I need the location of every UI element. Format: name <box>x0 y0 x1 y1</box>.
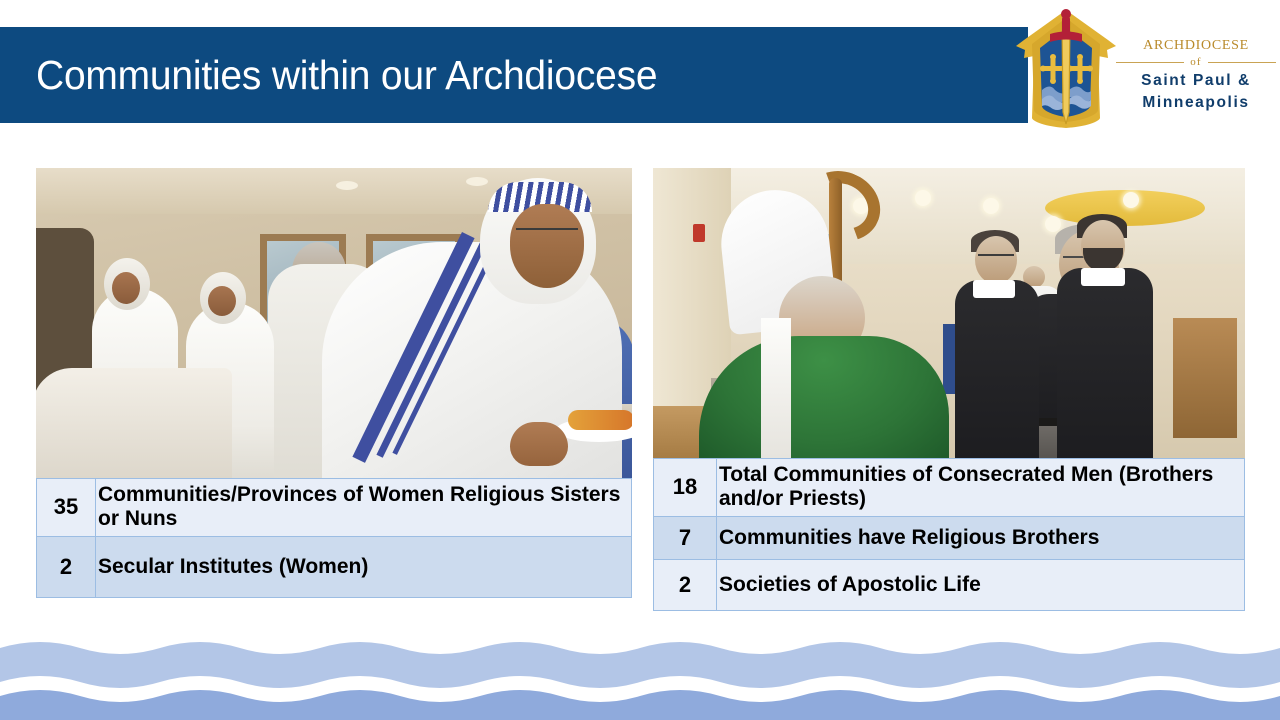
archdiocese-logo: Archdiocese of Saint Paul & Minneapolis <box>1012 6 1274 130</box>
logo-minneapolis-text: Minneapolis <box>1116 94 1276 112</box>
glasses-icon <box>516 228 578 241</box>
logo-saint-paul-text: Saint Paul & <box>1116 72 1276 90</box>
right-photo-brother-body <box>1057 268 1153 458</box>
women-communities-table: 35 Communities/Provinces of Women Religi… <box>36 478 632 598</box>
row-label: Communities/Provinces of Women Religious… <box>96 479 632 537</box>
roman-collar-icon <box>973 280 1015 298</box>
left-photo-scene <box>36 168 632 478</box>
row-count: 2 <box>654 559 717 610</box>
row-label: Societies of Apostolic Life <box>717 559 1245 610</box>
left-photo-sister-face <box>112 272 140 304</box>
table-row: 2 Secular Institutes (Women) <box>37 536 632 597</box>
table-row: 18 Total Communities of Consecrated Men … <box>654 459 1245 517</box>
logo-of-row: of <box>1116 57 1276 68</box>
logo-rule-left <box>1116 62 1184 63</box>
wave-band-dark <box>0 690 1280 720</box>
bottom-wave-decoration <box>0 634 1280 720</box>
left-photo-sister-face <box>208 286 236 316</box>
row-count: 35 <box>37 479 96 537</box>
table-row: 2 Societies of Apostolic Life <box>654 559 1245 610</box>
logo-rule-right <box>1208 62 1276 63</box>
right-photo-scene <box>653 168 1245 458</box>
right-photo-brother-body <box>955 280 1039 458</box>
left-photo-hand <box>510 422 568 466</box>
row-count: 18 <box>654 459 717 517</box>
glasses-icon <box>978 254 1014 263</box>
ceiling-light-icon <box>915 190 931 206</box>
table-row: 7 Communities have Religious Brothers <box>654 516 1245 559</box>
row-label: Communities have Religious Brothers <box>717 516 1245 559</box>
left-photo-sister-face <box>510 204 584 288</box>
right-photo-stool <box>1173 318 1237 438</box>
page-title: Communities within our Archdiocese <box>36 52 657 99</box>
right-photo-bishop-stole <box>761 318 791 458</box>
men-communities-table: 18 Total Communities of Consecrated Men … <box>653 458 1245 611</box>
row-count: 2 <box>37 536 96 597</box>
logo-of-text: of <box>1190 57 1202 68</box>
shield-with-sword-and-crosses-icon <box>1012 6 1120 130</box>
row-count: 7 <box>654 516 717 559</box>
row-label: Total Communities of Consecrated Men (Br… <box>717 459 1245 517</box>
row-label: Secular Institutes (Women) <box>96 536 632 597</box>
fire-alarm-icon <box>693 224 705 242</box>
wave-band-light <box>0 642 1280 688</box>
logo-wordmark: Archdiocese of Saint Paul & Minneapolis <box>1116 34 1276 112</box>
ceiling-light-icon <box>983 198 999 214</box>
left-photo-foreground-sister <box>312 178 632 478</box>
ceiling-light-icon <box>1123 192 1139 208</box>
roman-collar-icon <box>1081 268 1125 286</box>
table-row: 35 Communities/Provinces of Women Religi… <box>37 479 632 537</box>
photo-bishop-with-consecrated-men <box>653 168 1245 458</box>
logo-archdiocese-text: Archdiocese <box>1116 34 1276 54</box>
ceiling-light-icon <box>1045 216 1061 232</box>
slide-title-banner: Communities within our Archdiocese <box>0 27 1028 123</box>
photo-sisters-gathering <box>36 168 632 478</box>
left-photo-table <box>36 368 232 478</box>
left-photo-food <box>568 410 632 430</box>
